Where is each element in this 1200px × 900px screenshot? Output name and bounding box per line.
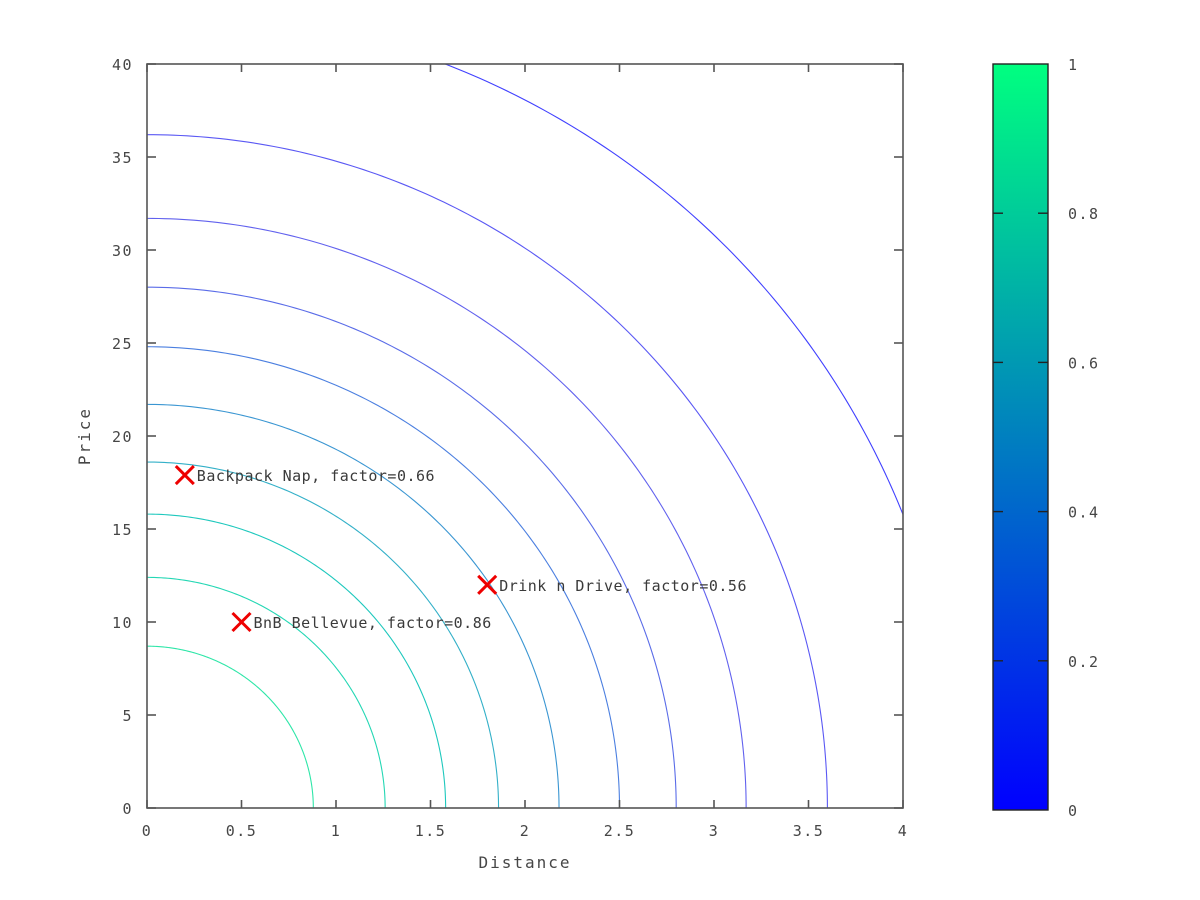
y-tick-label: 25 bbox=[112, 335, 133, 353]
data-point-label: Drink n Drive, factor=0.56 bbox=[499, 577, 747, 595]
x-axis-title: Distance bbox=[478, 853, 571, 872]
x-tick-label: 2.5 bbox=[604, 822, 636, 840]
data-point-marker[interactable] bbox=[478, 576, 496, 594]
colorbar-gradient bbox=[993, 64, 1048, 810]
colorbar-tick-label: 0.2 bbox=[1068, 653, 1100, 671]
plot-border bbox=[147, 64, 903, 808]
y-tick-label: 0 bbox=[122, 800, 133, 818]
colorbar-tick-label: 1 bbox=[1068, 56, 1079, 74]
contour-line-4 bbox=[147, 404, 559, 808]
colorbar-tick-label: 0.6 bbox=[1068, 354, 1100, 372]
x-tick-label: 3.5 bbox=[793, 822, 825, 840]
data-point-label: BnB Bellevue, factor=0.86 bbox=[254, 614, 492, 632]
y-axis-title: Price bbox=[75, 407, 94, 465]
x-tick-label: 1.5 bbox=[415, 822, 447, 840]
contour-line-3 bbox=[147, 462, 499, 808]
y-tick-label: 20 bbox=[112, 428, 133, 446]
data-point-marker[interactable] bbox=[176, 466, 194, 484]
contour-line-1 bbox=[147, 577, 385, 808]
contour-line-2 bbox=[147, 514, 446, 808]
x-tick-label: 0 bbox=[142, 822, 153, 840]
colorbar-tick-label: 0 bbox=[1068, 802, 1079, 820]
x-tick-label: 4 bbox=[898, 822, 909, 840]
y-tick-label: 15 bbox=[112, 521, 133, 539]
colorbar-tick-label: 0.4 bbox=[1068, 504, 1100, 522]
chart-canvas: 00.511.522.533.540510152025303540Distanc… bbox=[0, 0, 1200, 900]
y-tick-label: 5 bbox=[122, 707, 133, 725]
contour-plot: 00.511.522.533.540510152025303540Distanc… bbox=[0, 0, 1200, 900]
data-points: Backpack Nap, factor=0.66Drink n Drive, … bbox=[176, 466, 747, 632]
y-tick-label: 40 bbox=[112, 56, 133, 74]
y-tick-label: 35 bbox=[112, 149, 133, 167]
data-point-marker[interactable] bbox=[233, 613, 251, 631]
y-tick-label: 30 bbox=[112, 242, 133, 260]
contour-line-9 bbox=[147, 8, 960, 808]
data-point-label: Backpack Nap, factor=0.66 bbox=[197, 467, 435, 485]
x-tick-label: 0.5 bbox=[226, 822, 258, 840]
contour-line-7 bbox=[147, 218, 746, 808]
contour-line-6 bbox=[147, 287, 676, 808]
colorbar-tick-label: 0.8 bbox=[1068, 205, 1100, 223]
axis-ticks: 00.511.522.533.540510152025303540 bbox=[112, 56, 908, 840]
x-tick-label: 2 bbox=[520, 822, 531, 840]
contour-lines bbox=[147, 8, 960, 808]
colorbar[interactable]: 00.20.40.60.81 bbox=[993, 56, 1100, 820]
x-tick-label: 1 bbox=[331, 822, 342, 840]
y-tick-label: 10 bbox=[112, 614, 133, 632]
contour-line-0 bbox=[147, 646, 313, 808]
x-tick-label: 3 bbox=[709, 822, 720, 840]
